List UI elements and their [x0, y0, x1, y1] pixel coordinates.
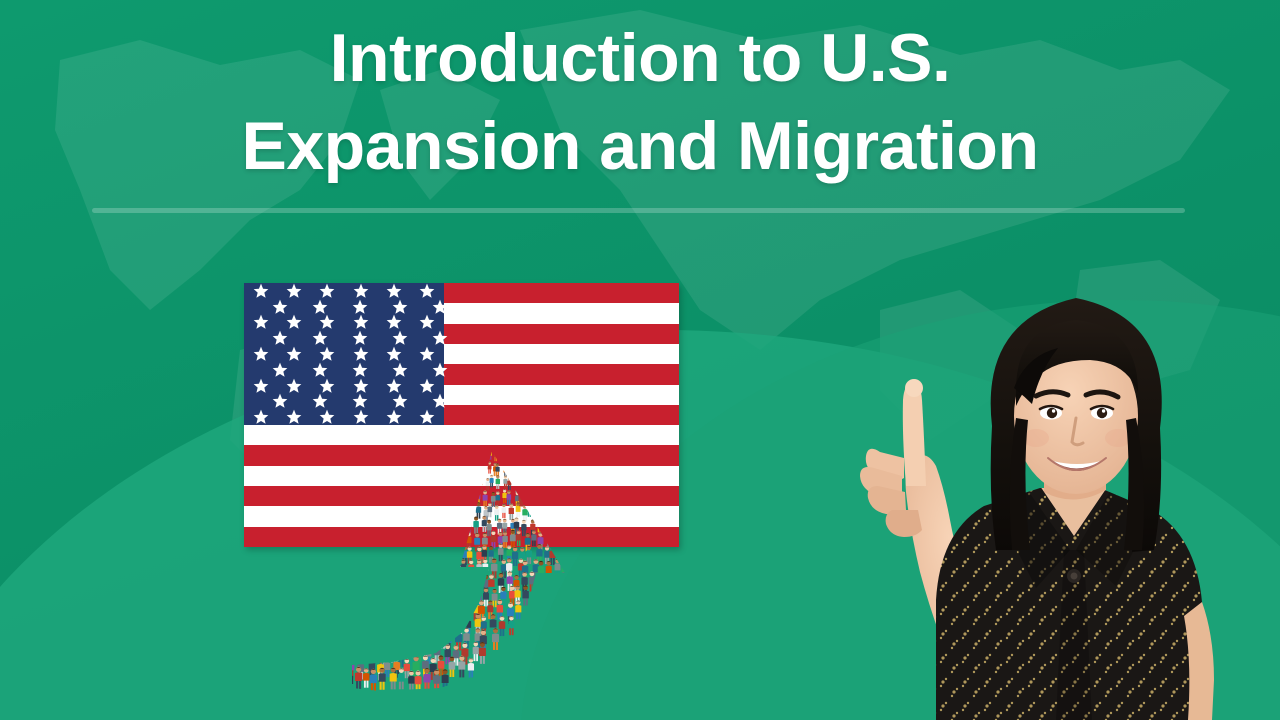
- crowd-person: [486, 520, 491, 536]
- crowd-person: [347, 656, 354, 678]
- crowd-person: [491, 531, 497, 549]
- crowd-person: [479, 642, 486, 664]
- star-icon: [312, 362, 328, 378]
- crowd-person: [390, 667, 397, 689]
- crowd-person: [465, 574, 471, 593]
- crowd-person: [507, 603, 514, 624]
- crowd-person: [398, 668, 405, 689]
- crowd-person: [355, 667, 362, 689]
- star-icon: [392, 299, 408, 315]
- crowd-person: [439, 627, 446, 649]
- flag-star-row: [244, 409, 444, 425]
- crowd-person: [433, 669, 440, 691]
- crowd-person: [346, 670, 353, 693]
- crowd-person: [527, 503, 532, 517]
- crowd-person: [440, 616, 447, 636]
- star-icon: [272, 393, 288, 409]
- crowd-person: [473, 475, 477, 488]
- crowd-person: [522, 585, 529, 605]
- crowd-person: [522, 505, 527, 522]
- crowd-person: [494, 505, 499, 520]
- star-icon: [253, 314, 269, 330]
- star-icon: [419, 409, 435, 425]
- crowd-person: [546, 561, 552, 580]
- crowd-person: [526, 545, 532, 564]
- crowd-person: [515, 600, 521, 619]
- crowd-person: [412, 558, 418, 576]
- crowd-person: [443, 573, 449, 591]
- star-icon: [432, 330, 448, 346]
- crowd-person: [445, 600, 451, 620]
- crowd-person: [562, 561, 568, 579]
- star-icon: [432, 393, 448, 409]
- crowd-person: [536, 503, 541, 518]
- crowd-person: [529, 572, 535, 592]
- crowd-person: [538, 561, 544, 581]
- crowd-person: [421, 628, 427, 647]
- video-title-slide: Introduction to U.S. Expansion and Migra…: [0, 0, 1280, 720]
- crowd-person: [468, 560, 474, 578]
- flag-star-row: [244, 378, 444, 394]
- crowd-person: [502, 531, 507, 548]
- crowd-person: [552, 530, 557, 547]
- crowd-person: [488, 449, 492, 460]
- crowd-person: [494, 450, 498, 461]
- crowd-person: [472, 491, 476, 505]
- crowd-person: [459, 517, 464, 534]
- crowd-person: [370, 669, 377, 692]
- crowd-person: [466, 519, 471, 535]
- crowd-person: [465, 489, 470, 504]
- title-line-2: Expansion and Migration: [0, 102, 1280, 190]
- crowd-person: [509, 586, 515, 606]
- presenter-woman-pointing-up: [740, 220, 1280, 720]
- crowd-person: [408, 671, 414, 691]
- crowd-person: [435, 588, 441, 607]
- star-icon: [352, 393, 368, 409]
- crowd-person: [487, 503, 492, 517]
- star-icon: [353, 378, 369, 394]
- crowd-person: [558, 547, 564, 564]
- crowd-person: [423, 668, 430, 691]
- star-icon: [392, 330, 408, 346]
- crowd-person: [430, 558, 436, 577]
- crowd-person: [468, 477, 472, 489]
- crowd-person: [466, 586, 472, 605]
- star-icon: [419, 346, 435, 362]
- crowd-person: [442, 669, 449, 691]
- star-icon: [253, 346, 269, 362]
- crowd-person: [379, 668, 386, 690]
- crowd-person: [433, 532, 439, 551]
- crowd-person: [492, 628, 499, 650]
- crowd-person: [490, 475, 494, 488]
- crowd-person: [506, 491, 511, 505]
- crowd-person: [468, 658, 474, 677]
- star-icon: [286, 378, 302, 394]
- star-icon: [392, 362, 408, 378]
- crowd-person: [542, 516, 548, 534]
- crowd-person: [503, 476, 507, 489]
- star-icon: [352, 330, 368, 346]
- crowd-person: [429, 627, 436, 649]
- crowd-person: [452, 519, 457, 536]
- crowd-person: [509, 503, 514, 520]
- star-icon: [419, 314, 435, 330]
- crowd-person: [486, 478, 490, 490]
- crowd-person: [496, 463, 500, 476]
- crowd-person: [450, 573, 456, 592]
- star-icon: [253, 283, 269, 299]
- star-icon: [419, 283, 435, 299]
- crowd-of-people-forming-upward-arrow: [340, 443, 608, 693]
- star-icon: [352, 362, 368, 378]
- page-title: Introduction to U.S. Expansion and Migra…: [0, 14, 1280, 190]
- flag-star-row: [244, 394, 476, 410]
- star-icon: [386, 283, 402, 299]
- crowd-person: [415, 671, 422, 692]
- crowd-person: [458, 589, 464, 607]
- crowd-person: [531, 530, 536, 546]
- star-icon: [312, 393, 328, 409]
- crowd-person: [423, 561, 429, 580]
- star-icon: [419, 378, 435, 394]
- crowd-person: [457, 615, 463, 634]
- crowd-person: [451, 544, 457, 563]
- crowd-person: [499, 616, 505, 636]
- crowd-person: [449, 506, 454, 521]
- crowd-person: [421, 545, 427, 563]
- star-icon: [253, 378, 269, 394]
- presenter-torso: [936, 486, 1214, 720]
- crowd-person: [491, 492, 496, 507]
- crowd-person: [496, 491, 501, 505]
- crowd-person: [454, 560, 461, 580]
- flag-star-row: [244, 330, 476, 346]
- crowd-person: [444, 531, 450, 549]
- crowd-person: [537, 517, 542, 532]
- crowd-person: [460, 530, 465, 546]
- star-icon: [352, 299, 368, 315]
- star-icon: [353, 283, 369, 299]
- crowd-person: [458, 502, 463, 516]
- star-icon: [319, 378, 335, 394]
- star-icon: [319, 283, 335, 299]
- crowd-person: [437, 531, 442, 547]
- crowd-person: [483, 588, 489, 607]
- flag-star-row: [244, 283, 444, 299]
- crowd-person: [430, 613, 437, 635]
- crowd-person: [473, 642, 479, 661]
- crowd-person: [363, 641, 370, 662]
- star-icon: [286, 314, 302, 330]
- crowd-person: [455, 601, 461, 621]
- star-icon: [253, 409, 269, 425]
- star-icon: [432, 362, 448, 378]
- crowd-person: [492, 589, 498, 607]
- crowd-person: [385, 628, 391, 648]
- flag-star-row: [244, 346, 444, 362]
- crowd-person: [476, 560, 482, 577]
- crowd-person: [512, 547, 518, 566]
- crowd-person: [464, 502, 469, 519]
- crowd-person: [446, 560, 452, 580]
- crowd-person: [473, 516, 479, 533]
- crowd-person: [462, 600, 469, 620]
- crowd-person: [422, 655, 429, 676]
- crowd-person: [486, 449, 490, 461]
- crowd-person: [429, 547, 435, 566]
- star-icon: [432, 299, 448, 315]
- crowd-person: [430, 600, 436, 620]
- crowd-person: [440, 586, 446, 605]
- crowd-person: [436, 559, 442, 577]
- star-icon: [272, 330, 288, 346]
- star-icon: [392, 393, 408, 409]
- crowd-person: [502, 504, 507, 518]
- crowd-person: [449, 657, 456, 677]
- title-divider: [92, 208, 1185, 213]
- crowd-person: [438, 603, 444, 622]
- crowd-person: [409, 629, 416, 651]
- crowd-person: [502, 489, 506, 503]
- crowd-person: [460, 489, 465, 504]
- crowd-person: [516, 530, 521, 546]
- crowd-person: [423, 600, 429, 619]
- crowd-person: [480, 460, 484, 474]
- star-icon: [386, 378, 402, 394]
- crowd-person: [460, 560, 466, 578]
- crowd-person: [469, 503, 474, 517]
- crowd-person: [510, 530, 516, 548]
- crowd-person: [555, 559, 561, 577]
- crowd-person: [413, 615, 420, 635]
- crowd-person: [466, 532, 472, 549]
- flag-star-row: [244, 362, 476, 378]
- star-icon: [353, 409, 369, 425]
- crowd-person: [450, 587, 456, 606]
- crowd-person: [439, 516, 444, 532]
- star-icon: [272, 299, 288, 315]
- crowd-person: [482, 559, 488, 577]
- star-icon: [286, 346, 302, 362]
- star-icon: [319, 409, 335, 425]
- crowd-person: [482, 516, 487, 532]
- crowd-person: [445, 644, 451, 664]
- flag-star-row: [244, 315, 444, 331]
- crowd-person: [478, 476, 482, 490]
- crowd-person: [404, 631, 410, 650]
- crowd-person: [422, 614, 429, 636]
- star-icon: [386, 314, 402, 330]
- crowd-person: [488, 462, 492, 474]
- crowd-person: [393, 630, 400, 651]
- crowd-person: [404, 614, 411, 636]
- crowd-person: [507, 477, 511, 490]
- crowd-person: [449, 617, 455, 636]
- crowd-person: [446, 519, 452, 536]
- crowd-person: [457, 572, 463, 592]
- title-line-1: Introduction to U.S.: [0, 14, 1280, 102]
- star-icon: [353, 346, 369, 362]
- crowd-person: [521, 520, 526, 536]
- crowd-person: [370, 643, 377, 663]
- crowd-person: [516, 502, 521, 517]
- star-icon: [386, 346, 402, 362]
- crowd-person: [476, 502, 481, 518]
- star-icon: [319, 346, 335, 362]
- crowd-person: [445, 548, 450, 565]
- star-icon: [312, 330, 328, 346]
- crowd-person: [478, 463, 482, 476]
- crowd-person: [435, 547, 441, 565]
- star-icon: [353, 314, 369, 330]
- star-icon: [319, 314, 335, 330]
- star-icon: [286, 409, 302, 425]
- star-icon: [312, 299, 328, 315]
- star-icon: [286, 283, 302, 299]
- crowd-person: [546, 531, 551, 548]
- crowd-person: [496, 475, 500, 489]
- crowd-person: [498, 544, 504, 562]
- crowd-person: [508, 616, 514, 635]
- crowd-person: [503, 464, 507, 477]
- crowd-person: [363, 668, 369, 688]
- star-icon: [386, 409, 402, 425]
- star-icon: [272, 362, 288, 378]
- crowd-person: [458, 656, 465, 678]
- crowd-person: [471, 575, 477, 594]
- crowd-person: [515, 478, 520, 493]
- crowd-person: [483, 491, 488, 507]
- flag-star-row: [244, 299, 476, 315]
- crowd-person: [390, 643, 396, 663]
- flag-canton: [244, 283, 444, 425]
- crowd-person: [452, 532, 458, 549]
